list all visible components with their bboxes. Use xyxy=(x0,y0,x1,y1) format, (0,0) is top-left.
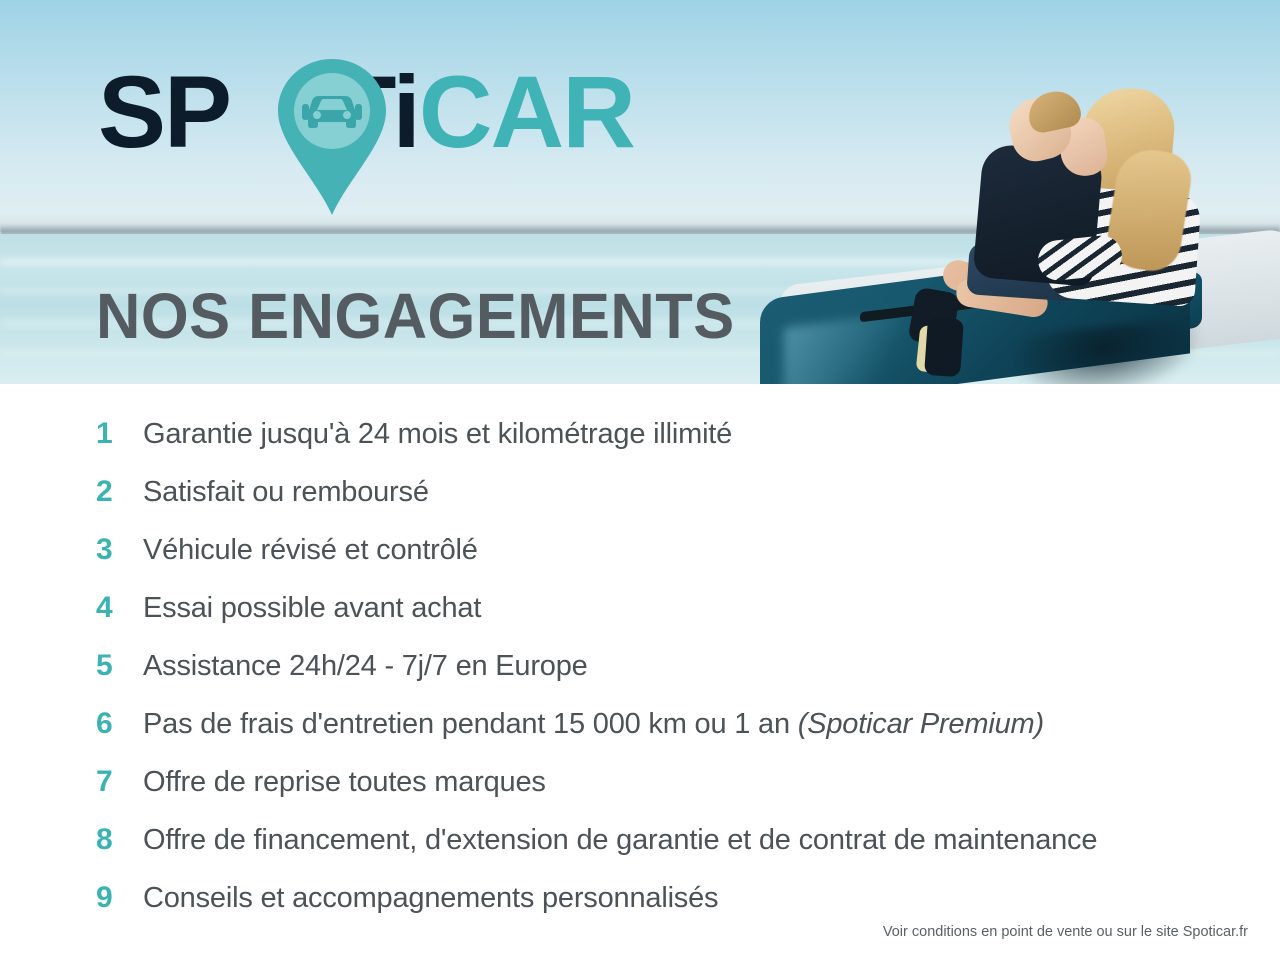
logo-text-sp: SP xyxy=(98,55,230,169)
list-item-text: Conseils et accompagnements personnalisé… xyxy=(143,878,718,918)
list-item: 5 Assistance 24h/24 - 7j/7 en Europe xyxy=(96,646,1226,704)
list-item-text-main: Essai possible avant achat xyxy=(143,592,481,624)
hero-photo xyxy=(760,0,1280,384)
list-item-text-main: Pas de frais d'entretien pendant 15 000 … xyxy=(143,708,798,740)
list-item-text: Offre de reprise toutes marques xyxy=(143,762,546,802)
list-item-text-main: Garantie jusqu'à 24 mois et kilométrage … xyxy=(143,418,732,450)
list-item-text-main: Offre de reprise toutes marques xyxy=(143,766,546,798)
list-item-text-italic: (Spoticar Premium) xyxy=(798,708,1044,740)
list-item-number: 5 xyxy=(96,646,143,686)
hero-banner: SPTiCAR NOS ENGAGEMENTS xyxy=(0,0,1280,384)
list-item-text: Garantie jusqu'à 24 mois et kilométrage … xyxy=(143,414,732,454)
list-item-number: 6 xyxy=(96,704,143,744)
list-item-number: 7 xyxy=(96,762,143,802)
list-item-text: Essai possible avant achat xyxy=(143,588,481,628)
disclaimer-text: Voir conditions en point de vente ou sur… xyxy=(883,924,1248,940)
list-item: 4 Essai possible avant achat xyxy=(96,588,1226,646)
page-title: NOS ENGAGEMENTS xyxy=(96,282,735,350)
list-item-number: 8 xyxy=(96,820,143,860)
list-item-text-main: Satisfait ou remboursé xyxy=(143,476,429,508)
list-item-number: 9 xyxy=(96,878,143,918)
list-item-text: Offre de financement, d'extension de gar… xyxy=(143,820,1097,860)
list-item-text: Pas de frais d'entretien pendant 15 000 … xyxy=(143,704,1044,744)
list-item: 3 Véhicule révisé et contrôlé xyxy=(96,530,1226,588)
list-item: 2 Satisfait ou remboursé xyxy=(96,472,1226,530)
spoticar-commitments-page: SPTiCAR NOS ENGAGEMENTS 1 Garantie jusqu… xyxy=(0,0,1280,960)
list-item: 7 Offre de reprise toutes marques xyxy=(96,762,1226,820)
commitments-list: 1 Garantie jusqu'à 24 mois et kilométrag… xyxy=(96,414,1226,936)
list-item-text-main: Véhicule révisé et contrôlé xyxy=(143,534,478,566)
list-item: 8 Offre de financement, d'extension de g… xyxy=(96,820,1226,878)
list-item-number: 4 xyxy=(96,588,143,628)
map-pin-car-icon xyxy=(276,57,388,217)
list-item-number: 3 xyxy=(96,530,143,570)
list-item-text-main: Offre de financement, d'extension de gar… xyxy=(143,824,1097,856)
logo-text-car: CAR xyxy=(419,55,634,169)
list-item: 6 Pas de frais d'entretien pendant 15 00… xyxy=(96,704,1226,762)
list-item-text-main: Assistance 24h/24 - 7j/7 en Europe xyxy=(143,650,588,682)
boy-boot-shape xyxy=(924,317,964,377)
list-item-number: 2 xyxy=(96,472,143,512)
list-item-text-main: Conseils et accompagnements personnalisé… xyxy=(143,882,718,914)
list-item-text: Assistance 24h/24 - 7j/7 en Europe xyxy=(143,646,588,686)
list-item-number: 1 xyxy=(96,414,143,454)
list-item-text: Véhicule révisé et contrôlé xyxy=(143,530,478,570)
list-item-text: Satisfait ou remboursé xyxy=(143,472,429,512)
list-item: 1 Garantie jusqu'à 24 mois et kilométrag… xyxy=(96,414,1226,472)
